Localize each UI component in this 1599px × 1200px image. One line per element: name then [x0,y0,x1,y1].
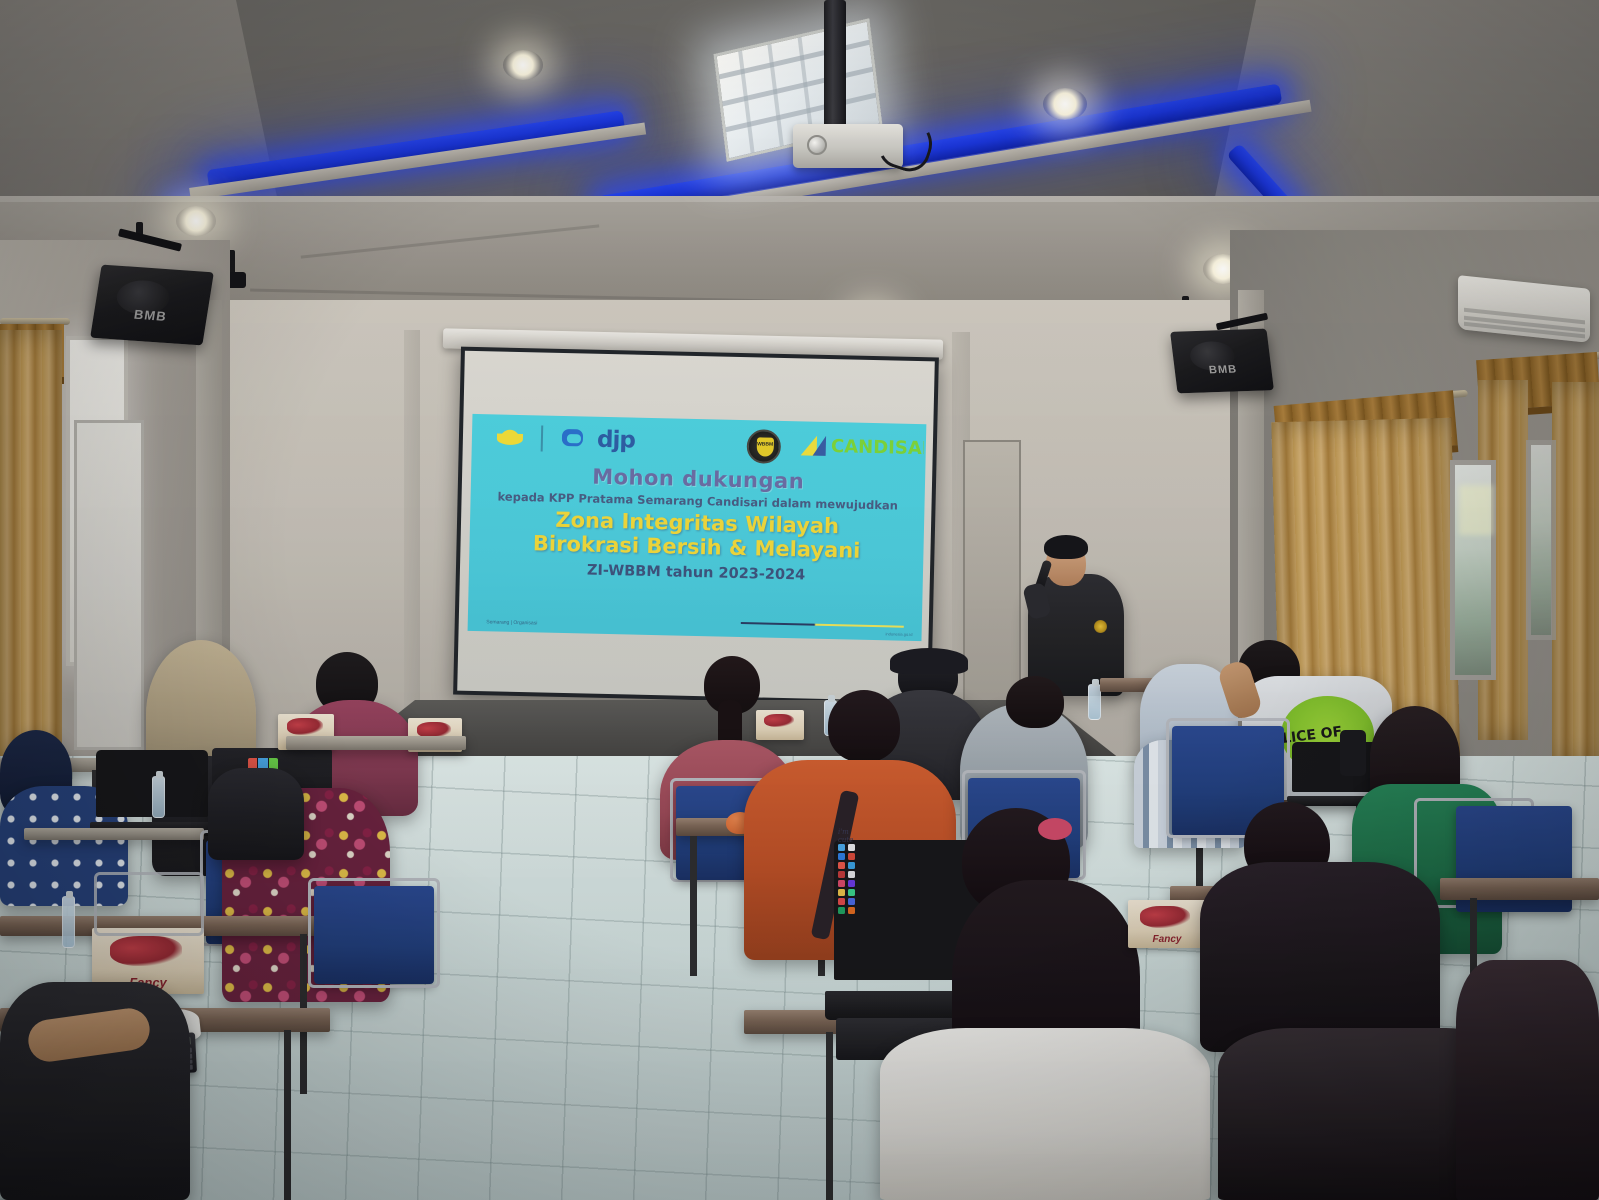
desk-leg-4 [690,836,697,976]
slide-footer-right: indonesia.go.id [885,631,912,637]
left-door[interactable] [74,420,144,750]
presenter-head [1046,540,1086,586]
candisari-logo: CANDISARI [801,433,924,462]
desk-leg-6 [826,1032,833,1200]
djp-logo-label: djp [597,427,635,454]
attendee-orange-head [828,690,900,762]
slide-footer-rule [740,622,903,628]
chair-frame-left-3[interactable] [308,878,440,988]
curtain-right-2b [1552,382,1599,762]
snack-box-center-1[interactable] [756,710,804,740]
baseball-cap-icon [890,648,968,674]
candisari-logo-label: CANDISARI [831,436,924,460]
right-window-2 [1526,440,1556,640]
speaker-brand-label-right: BMB [1208,363,1238,376]
attendee-grey-head [1006,676,1064,728]
snack-box-brand-4: Fancy [1128,934,1206,945]
snack-box-right-1[interactable]: Fancy [1128,900,1206,948]
smartphone-right[interactable] [1340,730,1366,776]
screen-surface: djp WBBM CANDISARI Mohon dukungan kepada… [457,351,935,702]
speaker-brand-label: BMB [133,307,168,324]
kemenkeu-logo-icon [497,426,524,451]
attendee-right-edge [1456,960,1599,1200]
seminar-room-photo: BMB BMB djp WBBM [0,0,1599,1200]
presentation-slide: djp WBBM CANDISARI Mohon dukungan kepada… [468,414,926,642]
right-window-1 [1450,460,1496,680]
snack-box-art-5 [1140,906,1190,928]
wall-speaker-right: BMB [1170,329,1274,394]
desk-center-back [286,736,466,750]
hair-tie-icon [1038,818,1072,840]
desk-left-mid [24,828,204,840]
projection-screen: djp WBBM CANDISARI Mohon dukungan kepada… [453,347,939,706]
wall-pilaster-left [404,330,420,730]
projector-lens-icon [807,135,827,155]
snack-box-art [287,718,323,735]
slide-footer-left: Semarang | Organisasi [486,619,537,626]
attendee-batik-hijab [208,768,304,860]
slide-year-line: ZI-WBBM tahun 2023-2024 [469,559,923,585]
djp-logo-icon [562,428,583,445]
candisari-mark-icon-2 [813,435,826,455]
snack-box-art-4 [764,714,795,728]
downlight-3 [176,206,216,236]
presenter-shirt-logo-icon [1094,620,1107,633]
slide-text-block: Mohon dukungan kepada KPP Pratama Semara… [469,462,925,586]
downlight-2 [1043,88,1087,120]
desk-right-3 [1440,878,1599,900]
wall-speaker-left: BMB [90,265,214,346]
attendee-white-top [880,1028,1210,1200]
presenter-hair [1044,535,1088,559]
downlight-1 [503,50,543,80]
desk-leg-3 [284,1030,291,1200]
logo-divider [541,426,544,452]
water-bottle-left-1[interactable] [152,776,165,818]
wbbm-badge-icon: WBBM [746,430,781,465]
water-bottle-left-2[interactable] [62,896,75,948]
projector-mount-pole [824,0,846,132]
window-glare [1459,485,1493,535]
wbbm-badge-label: WBBM [757,442,774,448]
snack-box-art-3 [110,936,182,966]
chair-frame-left-2[interactable] [94,872,204,936]
attendee-right-front-hair [1200,862,1440,1052]
